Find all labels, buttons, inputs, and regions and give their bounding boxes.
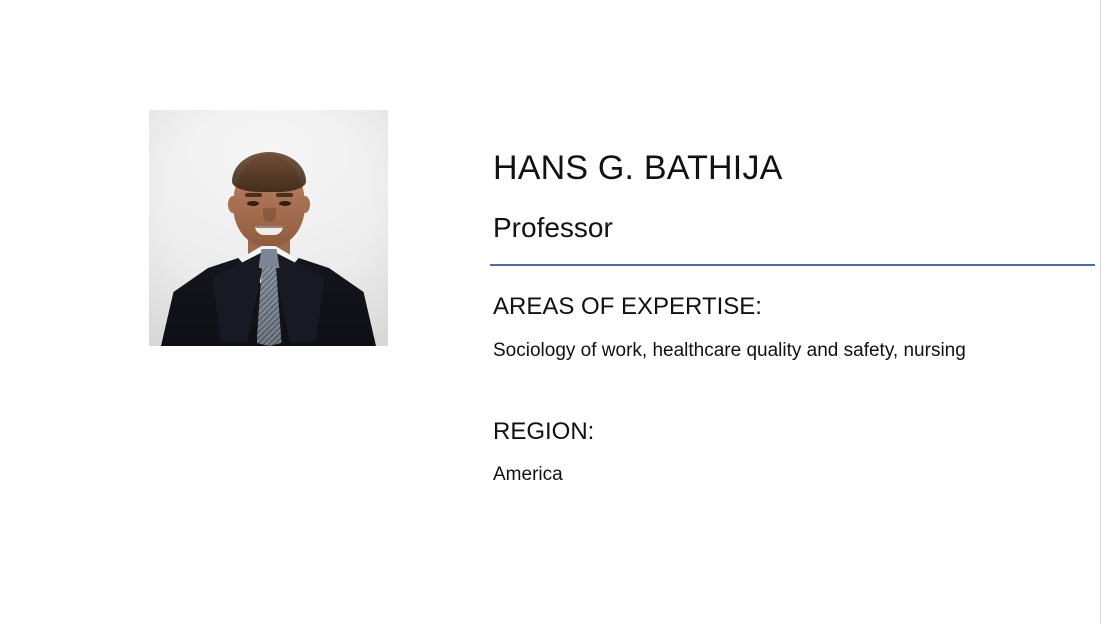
region-heading: REGION: <box>493 417 594 447</box>
portrait-mouth <box>255 226 283 235</box>
areas-of-expertise-value: Sociology of work, healthcare quality an… <box>493 338 966 363</box>
profile-name: HANS G. BATHIJA <box>493 148 783 188</box>
region-value: America <box>493 462 563 487</box>
section-divider <box>490 264 1095 266</box>
profile-job-title: Professor <box>493 211 613 245</box>
portrait-ear-left <box>228 196 238 213</box>
portrait-tie-knot <box>259 249 280 268</box>
portrait-nose <box>263 208 276 222</box>
portrait-eye-right <box>279 201 291 206</box>
areas-of-expertise-heading: AREAS OF EXPERTISE: <box>493 292 762 322</box>
photo-backdrop <box>149 110 388 346</box>
portrait-eyebrow-right <box>276 193 293 197</box>
page-right-border <box>1100 0 1101 624</box>
profile-slide: HANS G. BATHIJA Professor AREAS OF EXPER… <box>0 0 1113 624</box>
profile-photo <box>149 110 388 346</box>
portrait-eye-left <box>247 201 259 206</box>
portrait-eyebrow-left <box>245 193 262 197</box>
portrait-ear-right <box>300 196 310 213</box>
